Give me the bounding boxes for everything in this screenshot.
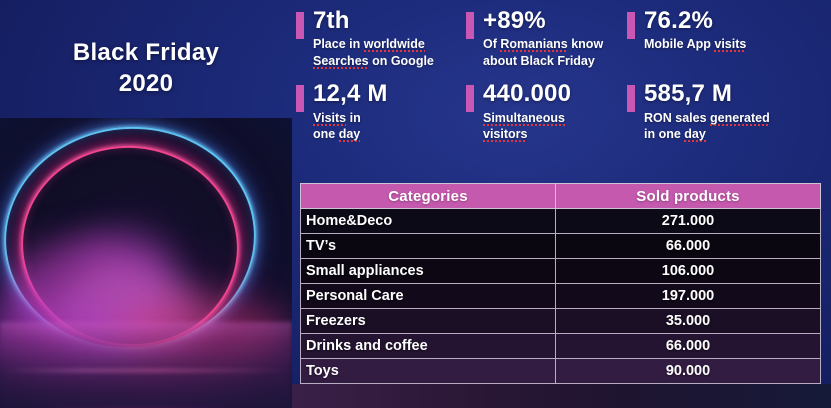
- stat-card-mobile-app: 76.2% Mobile App visits: [627, 8, 824, 69]
- stat-label: Mobile App visits: [644, 36, 746, 53]
- stat-label-text: know: [568, 37, 603, 51]
- stat-card-google-rank: 7th Place in worldwide Searches on Googl…: [296, 8, 466, 69]
- statistics-row-1: 7th Place in worldwide Searches on Googl…: [296, 8, 824, 69]
- accent-bar-icon: [466, 85, 474, 112]
- table-header: Categories Sold products: [301, 184, 821, 209]
- hero-artwork-panel: Black Friday 2020: [0, 0, 292, 408]
- statistics-row-2: 12,4 M Visits in one day 440.000 Simulta…: [296, 81, 824, 142]
- cell-category: Personal Care: [301, 284, 556, 309]
- accent-bar-icon: [627, 85, 635, 112]
- accent-bar-icon: [296, 85, 304, 112]
- stat-label-misspelled: visitors: [483, 127, 527, 142]
- stat-label: Place in worldwide Searches on Google: [313, 36, 434, 69]
- cell-category: Toys: [301, 359, 556, 384]
- stat-card-simultaneous-visitors: 440.000 Simultaneous visitors: [466, 81, 627, 142]
- stat-label-misspelled: worldwide: [364, 37, 425, 52]
- stat-value: +89%: [483, 8, 603, 33]
- statistics-grid: 7th Place in worldwide Searches on Googl…: [296, 8, 824, 143]
- stat-label-misspelled: day: [339, 127, 361, 142]
- stat-label-text: about Black Friday: [483, 54, 595, 68]
- ground-light-streak: [0, 369, 292, 372]
- sold-products-table-container: Categories Sold products Home&Deco 271.0…: [300, 183, 820, 384]
- stat-value: 585,7 M: [644, 81, 770, 106]
- table-row: TV’s 66.000: [301, 234, 821, 259]
- stat-label-text: one: [313, 127, 339, 141]
- stat-label: Simultaneous visitors: [483, 110, 571, 143]
- cell-category: Small appliances: [301, 259, 556, 284]
- column-header-sold-products: Sold products: [556, 184, 821, 209]
- page-title-line-1: Black Friday: [0, 38, 292, 69]
- stat-label-text: Of: [483, 37, 500, 51]
- stat-label: Of Romanians know about Black Friday: [483, 36, 603, 69]
- cell-category: Drinks and coffee: [301, 334, 556, 359]
- cell-sold: 271.000: [556, 209, 821, 234]
- page-title: Black Friday 2020: [0, 38, 292, 99]
- stat-label-text: RON sales: [644, 111, 710, 125]
- stat-label: RON sales generated in one day: [644, 110, 770, 143]
- cell-category: Home&Deco: [301, 209, 556, 234]
- stat-value: 7th: [313, 8, 434, 33]
- table-row: Freezers 35.000: [301, 309, 821, 334]
- cell-sold: 66.000: [556, 234, 821, 259]
- cell-category: Freezers: [301, 309, 556, 334]
- stat-label-misspelled: day: [684, 127, 706, 142]
- table-row: Drinks and coffee 66.000: [301, 334, 821, 359]
- stat-value: 440.000: [483, 81, 571, 106]
- cell-sold: 90.000: [556, 359, 821, 384]
- stat-label-misspelled: Visits: [313, 111, 346, 126]
- stat-label-misspelled: Romanians: [500, 37, 567, 52]
- slide-canvas: Black Friday 2020 7th Place in worldwide…: [0, 0, 831, 408]
- reflective-ground: [0, 322, 292, 408]
- accent-bar-icon: [627, 12, 635, 39]
- stat-label-text: on Google: [369, 54, 434, 68]
- cell-category: TV’s: [301, 234, 556, 259]
- stat-card-ron-sales: 585,7 M RON sales generated in one day: [627, 81, 824, 142]
- stat-card-awareness: +89% Of Romanians know about Black Frida…: [466, 8, 627, 69]
- stat-label-text: Mobile App: [644, 37, 714, 51]
- cell-sold: 106.000: [556, 259, 821, 284]
- stat-label-misspelled: visits: [714, 37, 746, 52]
- stat-label-text: in one: [644, 127, 684, 141]
- page-title-line-2: 2020: [0, 69, 292, 100]
- stat-label-text: Place in: [313, 37, 364, 51]
- stat-value: 12,4 M: [313, 81, 388, 106]
- neon-ring-graphic: [0, 118, 292, 408]
- stat-label-misspelled: Searches: [313, 54, 369, 69]
- sold-products-table: Categories Sold products Home&Deco 271.0…: [300, 183, 821, 384]
- stat-label-text: in: [346, 111, 361, 125]
- cell-sold: 35.000: [556, 309, 821, 334]
- cell-sold: 66.000: [556, 334, 821, 359]
- accent-bar-icon: [296, 12, 304, 39]
- column-header-categories: Categories: [301, 184, 556, 209]
- stat-label-misspelled: Simultaneous: [483, 111, 565, 126]
- cell-sold: 197.000: [556, 284, 821, 309]
- table-header-row: Categories Sold products: [301, 184, 821, 209]
- table-row: Small appliances 106.000: [301, 259, 821, 284]
- stat-card-visits: 12,4 M Visits in one day: [296, 81, 466, 142]
- table-row: Personal Care 197.000: [301, 284, 821, 309]
- stat-value: 76.2%: [644, 8, 746, 33]
- table-floor-reflection: [292, 384, 831, 408]
- table-row: Home&Deco 271.000: [301, 209, 821, 234]
- accent-bar-icon: [466, 12, 474, 39]
- table-body: Home&Deco 271.000 TV’s 66.000 Small appl…: [301, 209, 821, 384]
- stat-label-misspelled: generated: [710, 111, 770, 126]
- stat-label: Visits in one day: [313, 110, 388, 143]
- table-row: Toys 90.000: [301, 359, 821, 384]
